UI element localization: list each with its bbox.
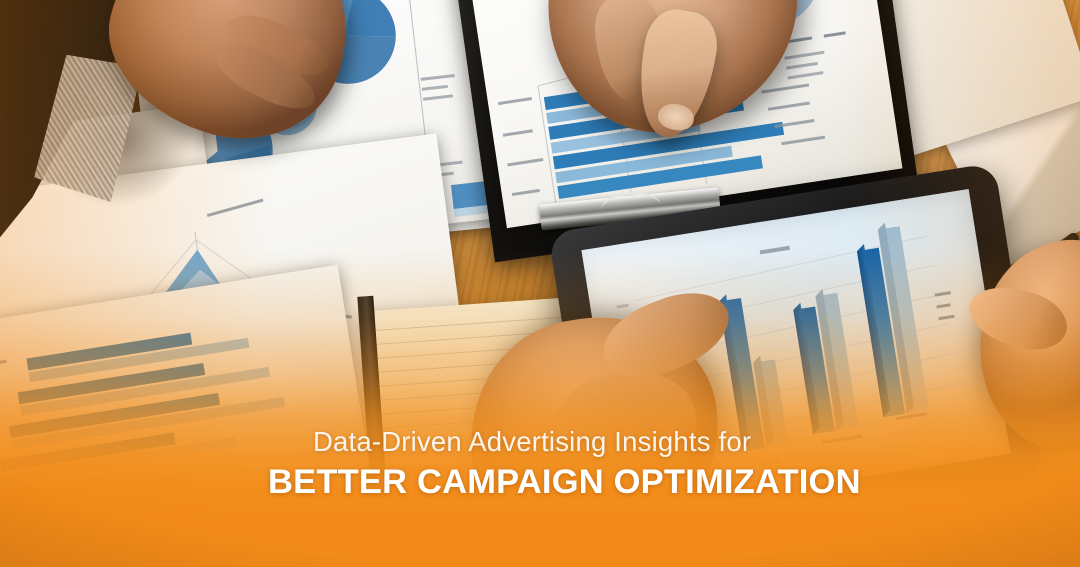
tablet-chart-title (760, 246, 790, 255)
banner-root: Data-Driven Advertising Insights for BET… (0, 0, 1080, 567)
tablet-chart-legend (935, 291, 955, 320)
headline-block: Data-Driven Advertising Insights for BET… (268, 428, 968, 499)
headline-title: BETTER CAMPAIGN OPTIMIZATION (268, 465, 968, 500)
left-paper-horizontal-bars (0, 318, 297, 540)
tablet-bar-group-3 (791, 287, 859, 434)
headline-subtitle: Data-Driven Advertising Insights for (313, 428, 968, 456)
tablet-bar-group-4 (853, 220, 928, 417)
